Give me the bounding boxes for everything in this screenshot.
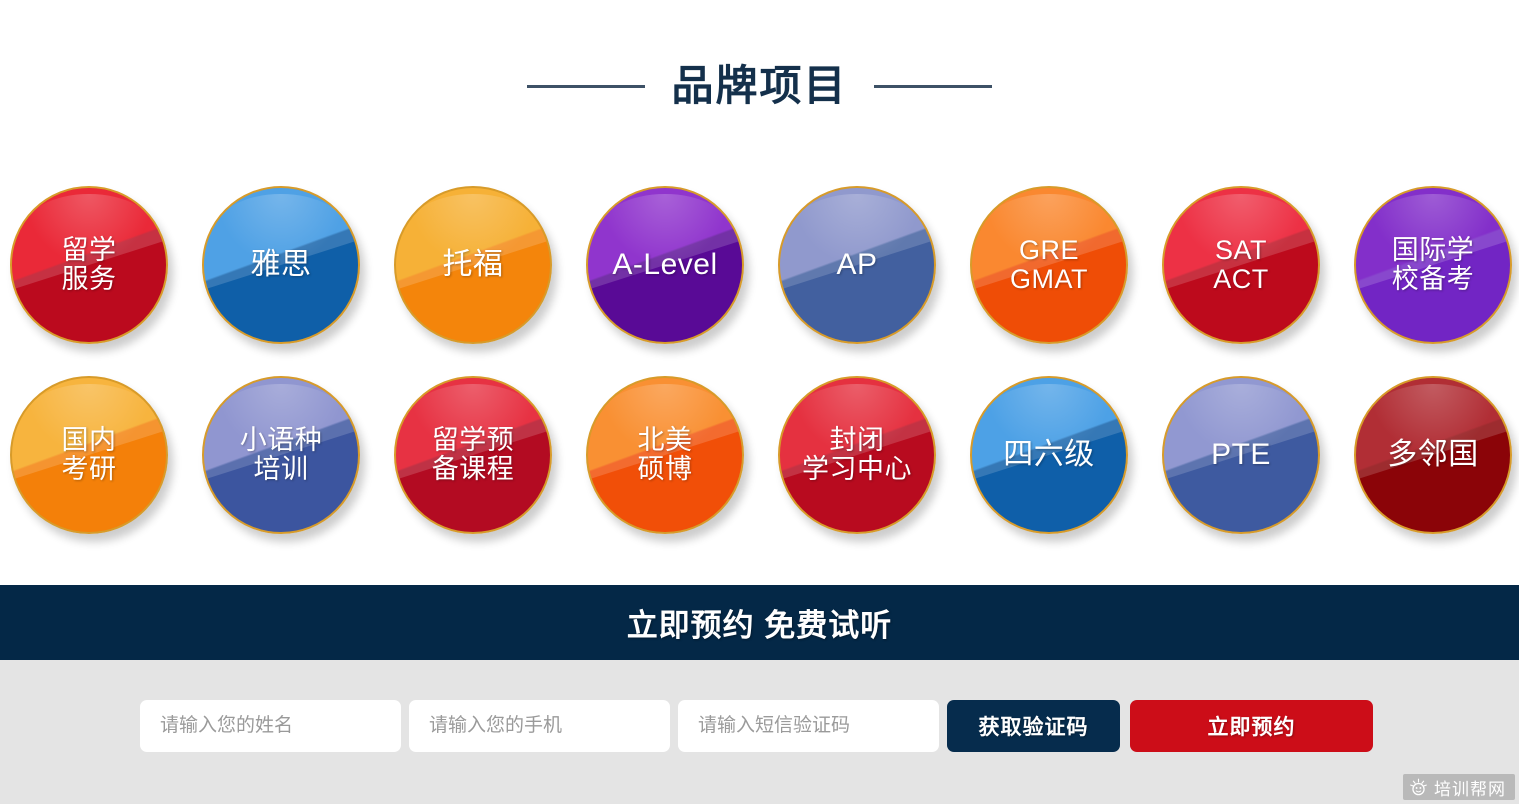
bubble-toefl[interactable]: 托福 xyxy=(394,186,552,344)
bubble-label: GRE GMAT xyxy=(1010,236,1088,294)
bubble-label: 国内 考研 xyxy=(62,426,117,484)
sms-code-input[interactable] xyxy=(678,700,939,752)
program-row-2: 国内 考研小语种 培训留学预 备课程北美 硕博封闭 学习中心四六级PTE多邻国 xyxy=(0,368,1519,558)
bubble-gre-gmat[interactable]: GRE GMAT xyxy=(970,186,1128,344)
booking-banner: 立即预约 免费试听 xyxy=(0,585,1519,660)
watermark-text: 培训帮网 xyxy=(1434,775,1506,800)
bubble-label: 北美 硕博 xyxy=(638,426,693,484)
program-row-1: 留学 服务雅思托福A-LevelAPGRE GMATSAT ACT国际学 校备考 xyxy=(0,178,1519,368)
page-title: 品牌项目 xyxy=(671,62,847,110)
bubble-siliuji[interactable]: 四六级 xyxy=(970,376,1128,534)
booking-banner-text: 立即预约 免费试听 xyxy=(627,600,893,645)
bubble-label: 多邻国 xyxy=(1387,439,1479,471)
bubble-duolingguo[interactable]: 多邻国 xyxy=(1354,376,1512,534)
phone-input[interactable] xyxy=(409,700,670,752)
title-rule-right xyxy=(874,85,992,88)
booking-form: 获取验证码 立即预约 xyxy=(140,700,1373,752)
program-grid: 留学 服务雅思托福A-LevelAPGRE GMATSAT ACT国际学 校备考… xyxy=(0,178,1519,558)
name-input[interactable] xyxy=(140,700,401,752)
bubble-a-level[interactable]: A-Level xyxy=(586,186,744,344)
title-rule-left xyxy=(527,85,645,88)
bubble-label: A-Level xyxy=(612,249,717,281)
bubble-liuxue-fuwu[interactable]: 留学 服务 xyxy=(10,186,168,344)
bubble-label: 雅思 xyxy=(251,249,312,281)
bubble-label: AP xyxy=(836,249,877,281)
bubble-ap[interactable]: AP xyxy=(778,186,936,344)
submit-booking-button[interactable]: 立即预约 xyxy=(1130,700,1373,752)
bubble-label: 托福 xyxy=(443,249,504,281)
bubble-fengbi-zhongxin[interactable]: 封闭 学习中心 xyxy=(778,376,936,534)
booking-form-strip: 获取验证码 立即预约 xyxy=(0,660,1519,804)
bubble-label: 小语种 培训 xyxy=(240,426,323,484)
get-code-button[interactable]: 获取验证码 xyxy=(947,700,1120,752)
brand-programs-page: 品牌项目 留学 服务雅思托福A-LevelAPGRE GMATSAT ACT国际… xyxy=(0,0,1519,804)
bubble-xiaoyuzhong[interactable]: 小语种 培训 xyxy=(202,376,360,534)
bubble-label: 留学预 备课程 xyxy=(432,426,515,484)
bubble-label: 国际学 校备考 xyxy=(1392,236,1475,294)
bubble-beimei-shuobo[interactable]: 北美 硕博 xyxy=(586,376,744,534)
bubble-liuxue-yubei[interactable]: 留学预 备课程 xyxy=(394,376,552,534)
watermark: 培训帮网 xyxy=(1403,774,1515,800)
bubble-ielts[interactable]: 雅思 xyxy=(202,186,360,344)
bubble-label: SAT ACT xyxy=(1213,236,1269,294)
bubble-pte[interactable]: PTE xyxy=(1162,376,1320,534)
bubble-label: 封闭 学习中心 xyxy=(802,426,912,484)
sun-face-icon xyxy=(1409,778,1428,797)
bubble-sat-act[interactable]: SAT ACT xyxy=(1162,186,1320,344)
bubble-guoji-xuexiao[interactable]: 国际学 校备考 xyxy=(1354,186,1512,344)
bubble-guonei-kaoyan[interactable]: 国内 考研 xyxy=(10,376,168,534)
bubble-label: 留学 服务 xyxy=(62,236,117,294)
bubble-label: PTE xyxy=(1211,439,1271,471)
section-title-row: 品牌项目 xyxy=(0,62,1519,110)
bubble-label: 四六级 xyxy=(1003,439,1095,471)
